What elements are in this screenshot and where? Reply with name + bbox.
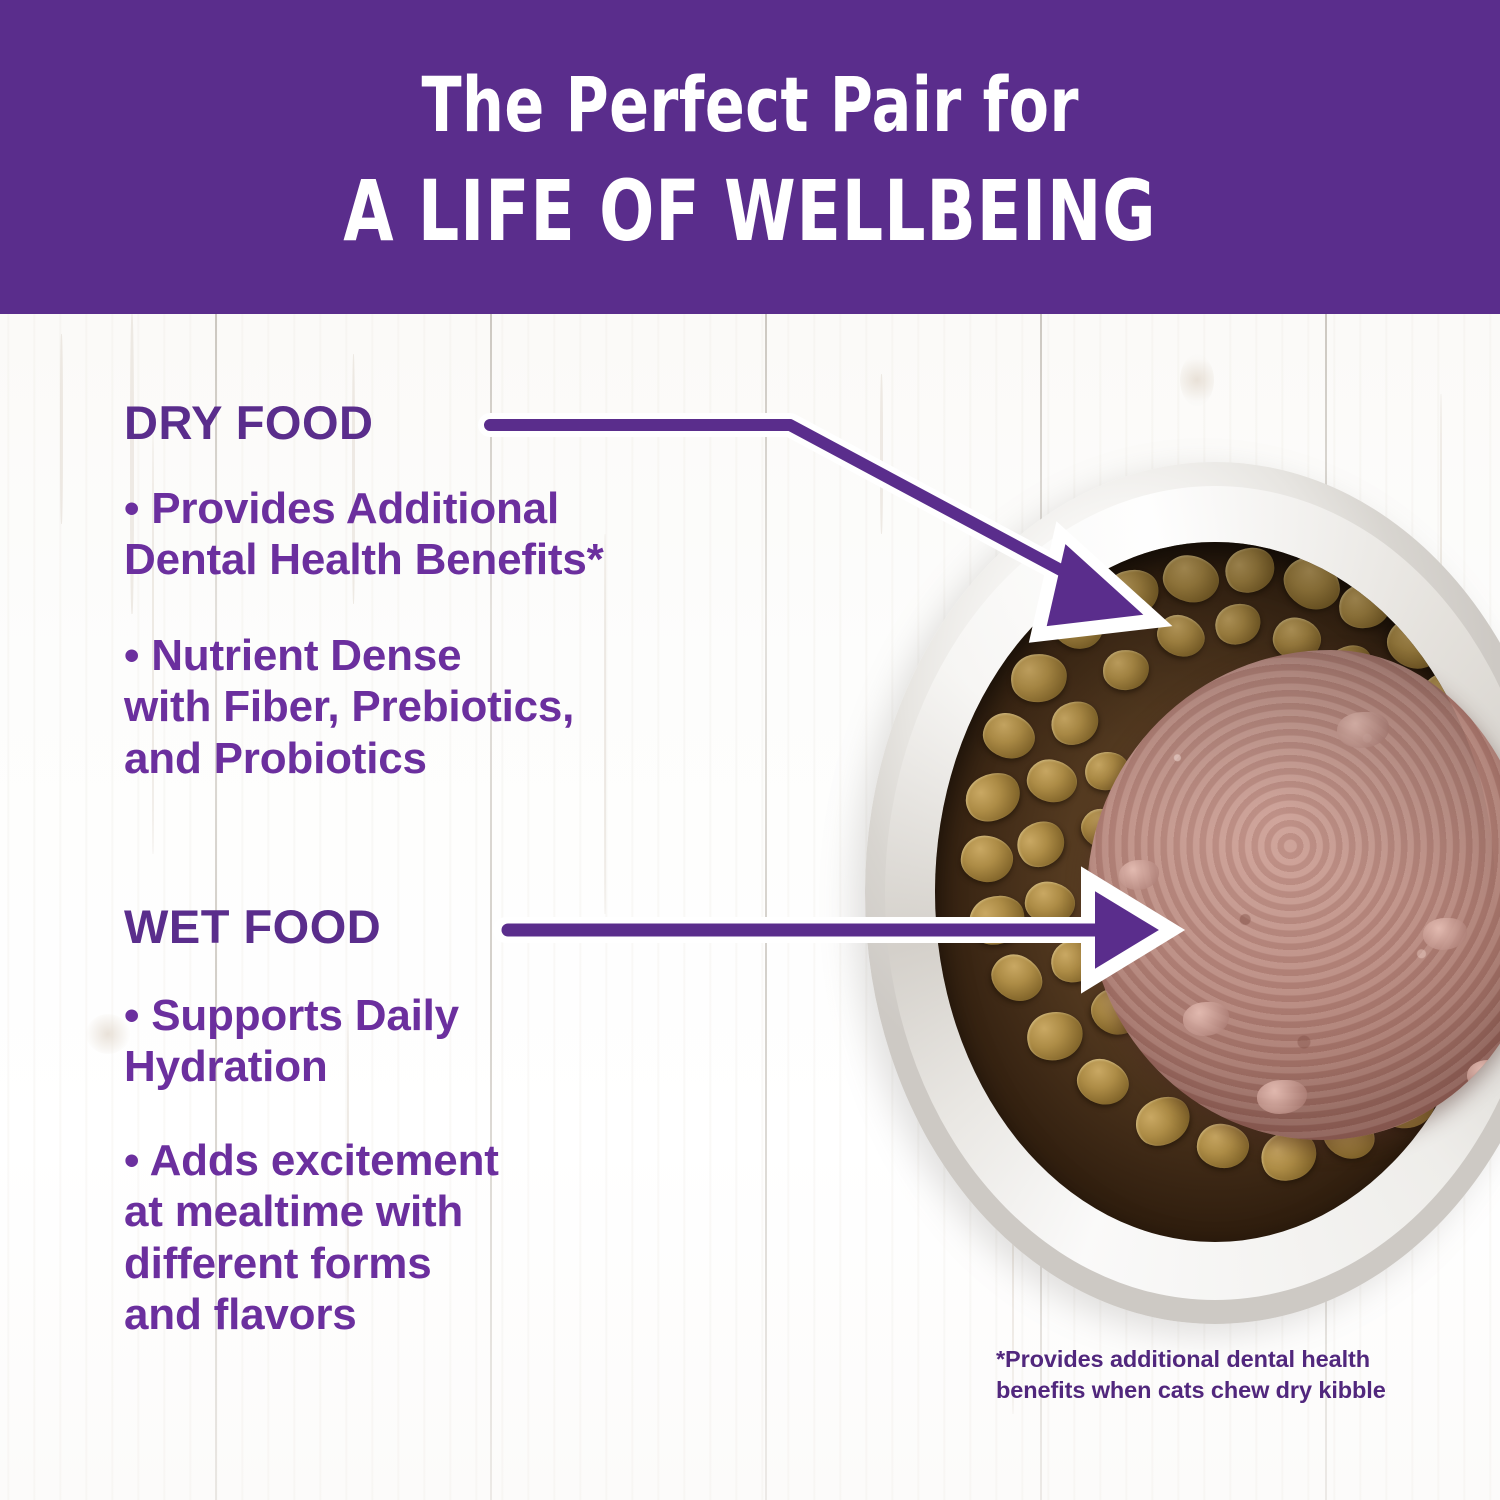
bullet-line: with Fiber, Prebiotics, (124, 681, 574, 732)
bullet-line: • Adds excitement (124, 1135, 499, 1186)
bullet-line: at mealtime with (124, 1186, 499, 1237)
bullet-wet-food-2: • Adds excitement at mealtime with diffe… (124, 1135, 499, 1341)
kibble-piece (977, 707, 1040, 766)
kibble-piece (963, 889, 1031, 952)
bullet-dry-food-1: • Provides Additional Dental Health Bene… (124, 483, 604, 586)
kibble-piece (1210, 598, 1267, 651)
bullet-wet-food-1: • Supports Daily Hydration (124, 990, 459, 1093)
kibble-piece (958, 764, 1028, 830)
section-heading-dry-food: DRY FOOD (124, 399, 373, 446)
kibble-piece (1023, 1007, 1088, 1066)
footnote-line-1: *Provides additional dental health (996, 1344, 1416, 1375)
bullet-line: and Probiotics (124, 733, 574, 784)
kibble-piece (1219, 542, 1282, 600)
poster-canvas: The Perfect Pair for A LIFE OF WELLBEING (0, 0, 1500, 1500)
kibble-piece (1100, 563, 1165, 622)
plank-seam (765, 314, 767, 1500)
bullet-line: Dental Health Benefits* (124, 534, 604, 585)
kibble-piece (1009, 812, 1073, 875)
bullet-line: • Provides Additional (124, 483, 604, 534)
kibble-piece (1023, 755, 1081, 807)
kibble-piece (958, 833, 1016, 886)
header-band: The Perfect Pair for A LIFE OF WELLBEING (0, 0, 1500, 314)
kibble-piece (1044, 595, 1110, 658)
wood-knot (1180, 354, 1214, 406)
kibble-piece (1022, 878, 1078, 927)
header-title-group: The Perfect Pair for A LIFE OF WELLBEING (0, 0, 1500, 314)
bullet-dry-food-2: • Nutrient Dense with Fiber, Prebiotics,… (124, 630, 574, 784)
section-heading-wet-food: WET FOOD (124, 903, 381, 950)
pate-crumb (1467, 1060, 1500, 1090)
footnote-line-2: benefits when cats chew dry kibble (996, 1375, 1416, 1406)
footnote: *Provides additional dental health benef… (996, 1344, 1416, 1406)
page-title-line-1: The Perfect Pair for (421, 67, 1078, 143)
kibble-piece (1158, 550, 1223, 608)
bullet-line: and flavors (124, 1289, 499, 1340)
wet-food-pate (1087, 650, 1500, 1140)
bullet-line: • Nutrient Dense (124, 630, 574, 681)
kibble-piece (983, 946, 1050, 1010)
bullet-line: different forms (124, 1238, 499, 1289)
bullet-line: Hydration (124, 1041, 459, 1092)
page-title-line-2: A LIFE OF WELLBEING (343, 169, 1156, 253)
wood-grain (60, 334, 63, 524)
kibble-piece (1008, 651, 1069, 705)
cat-food-bowl-image (865, 462, 1500, 1324)
wood-grain (604, 534, 606, 914)
bullet-line: • Supports Daily (124, 990, 459, 1041)
pate-texture (1087, 650, 1500, 1140)
